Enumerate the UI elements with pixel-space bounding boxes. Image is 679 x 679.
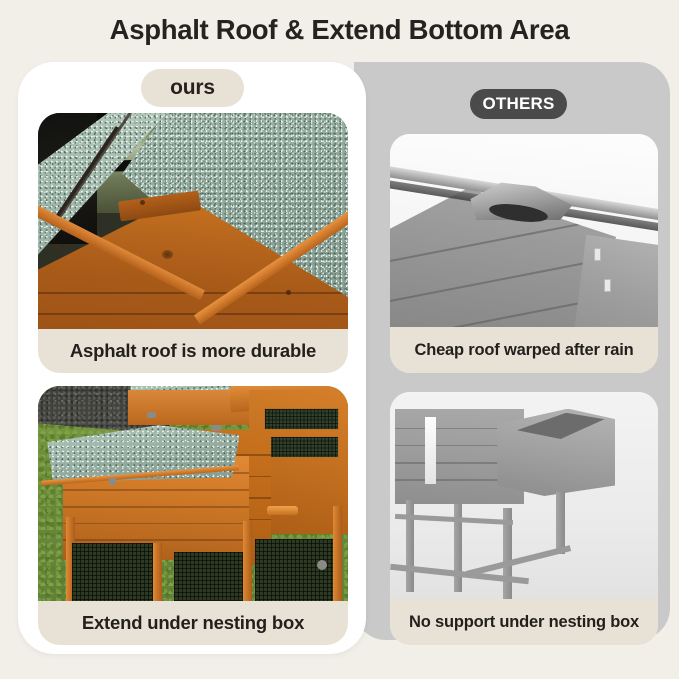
hinge-bracket	[594, 248, 601, 261]
screw-head	[54, 244, 59, 249]
others-badge: OTHERS	[470, 89, 567, 119]
grey-base-bar	[466, 546, 571, 578]
caption-others-extend: No support under nesting box	[390, 599, 658, 645]
hinge-bracket	[604, 279, 611, 292]
card-ours-roof: Asphalt roof is more durable	[38, 113, 348, 373]
wire-mesh-run	[72, 543, 153, 604]
others-badge-label: OTHERS	[482, 94, 554, 114]
page-title: Asphalt Roof & Extend Bottom Area	[0, 14, 679, 46]
support-leg	[243, 521, 252, 604]
photo-others-roof	[390, 134, 658, 330]
wire-mesh-window	[264, 436, 338, 458]
caption-ours-roof: Asphalt roof is more durable	[38, 329, 348, 373]
screw-head	[286, 290, 291, 295]
wire-mesh-door	[255, 539, 333, 604]
photo-ours-roof	[38, 113, 348, 331]
card-others-extend: No support under nesting box	[390, 392, 658, 645]
caption-ours-extend: Extend under nesting box	[38, 601, 348, 645]
latch-hardware	[109, 478, 116, 485]
support-leg	[153, 543, 162, 604]
wire-mesh-window	[264, 408, 338, 430]
ours-badge-label: ours	[170, 76, 215, 100]
hinge-hardware	[212, 425, 221, 431]
support-leg	[333, 506, 342, 604]
caption-others-roof: Cheap roof warped after rain	[390, 327, 658, 373]
hinge-hardware	[147, 412, 156, 418]
card-ours-extend: Extend under nesting box	[38, 386, 348, 645]
grey-leg	[556, 492, 565, 554]
wire-mesh-run	[174, 552, 242, 604]
door-handle	[267, 506, 298, 515]
card-others-roof: Cheap roof warped after rain	[390, 134, 658, 373]
grey-coop-door-gap	[425, 417, 436, 484]
photo-others-extend	[390, 392, 658, 600]
photo-ours-extend	[38, 386, 348, 604]
ours-badge: ours	[141, 69, 244, 107]
